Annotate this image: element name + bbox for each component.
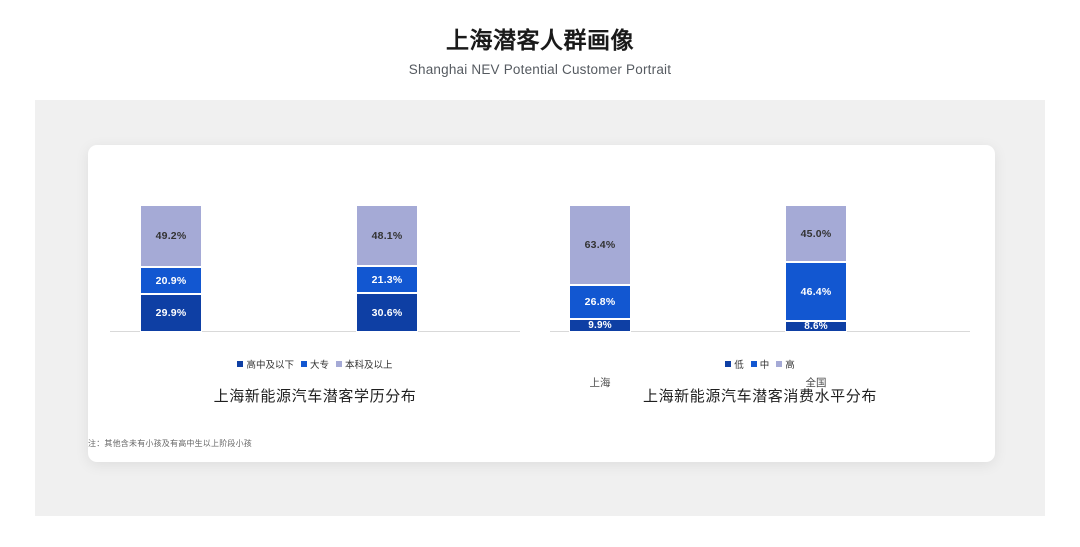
legend-item[interactable]: 高中及以下 (237, 357, 294, 371)
page-header: 上海潜客人群画像 Shanghai NEV Potential Customer… (0, 0, 1080, 100)
bar-segment-label: 45.0% (801, 228, 832, 240)
legend-label: 低 (734, 357, 744, 371)
bar-stack[interactable]: 48.1% 21.3% 30.6% (356, 205, 418, 332)
legend-swatch-icon (237, 361, 243, 367)
legend-label: 中 (760, 357, 770, 371)
bar-segment[interactable]: 48.1% (356, 205, 418, 266)
legend-item[interactable]: 本科及以上 (336, 357, 393, 371)
chart-caption: 上海新能源汽车潜客学历分布 (100, 385, 530, 406)
content-panel: 49.2% 20.9% 29.9% 48.1% (35, 100, 1045, 516)
bar-segment[interactable]: 45.0% (785, 205, 847, 262)
bar-stack[interactable]: 45.0% 46.4% 8.6% (785, 205, 847, 332)
chart-legend-consumption: 低 中 高 (540, 357, 980, 371)
bar-segment[interactable]: 21.3% (356, 266, 418, 293)
bar-segment[interactable]: 29.9% (140, 294, 202, 332)
bar-stack[interactable]: 63.4% 26.8% 9.9% (569, 205, 631, 332)
bar-group[interactable]: 49.2% 20.9% 29.9% (140, 185, 202, 332)
plot-area-education: 49.2% 20.9% 29.9% 48.1% (100, 185, 530, 332)
bar-segment[interactable]: 30.6% (356, 293, 418, 332)
page-title: 上海潜客人群画像 (0, 0, 1080, 55)
legend-swatch-icon (751, 361, 757, 367)
bar-segment[interactable]: 46.4% (785, 262, 847, 321)
bar-segment[interactable]: 20.9% (140, 267, 202, 294)
bar-group[interactable]: 48.1% 21.3% 30.6% (356, 185, 418, 332)
legend-swatch-icon (776, 361, 782, 367)
chart-legend-education: 高中及以下 大专 本科及以上 (100, 357, 530, 371)
legend-item[interactable]: 高 (776, 357, 795, 371)
plot-area-consumption: 63.4% 26.8% 9.9% 上海 45.0% (540, 185, 980, 332)
page-subtitle: Shanghai NEV Potential Customer Portrait (0, 55, 1080, 77)
legend-swatch-icon (336, 361, 342, 367)
bar-segment-label: 21.3% (372, 274, 403, 286)
chart-card: 49.2% 20.9% 29.9% 48.1% (88, 145, 995, 462)
bar-segment[interactable]: 26.8% (569, 285, 631, 319)
bar-segment-label: 8.6% (804, 321, 828, 332)
bar-group[interactable]: 63.4% 26.8% 9.9% (569, 185, 631, 332)
bar-stack[interactable]: 49.2% 20.9% 29.9% (140, 205, 202, 332)
bar-segment[interactable]: 9.9% (569, 319, 631, 332)
legend-item[interactable]: 低 (725, 357, 744, 371)
legend-label: 本科及以上 (345, 357, 393, 371)
bar-segment-label: 49.2% (156, 230, 187, 242)
legend-label: 高中及以下 (246, 357, 294, 371)
legend-item[interactable]: 大专 (301, 357, 329, 371)
legend-swatch-icon (301, 361, 307, 367)
bar-segment-label: 30.6% (372, 307, 403, 319)
legend-swatch-icon (725, 361, 731, 367)
bar-segment-label: 63.4% (585, 239, 616, 251)
chart-education-distribution: 49.2% 20.9% 29.9% 48.1% (100, 145, 530, 462)
bar-segment-label: 26.8% (585, 296, 616, 308)
bar-segment[interactable]: 8.6% (785, 321, 847, 332)
bar-group[interactable]: 45.0% 46.4% 8.6% (785, 185, 847, 332)
bar-segment-label: 29.9% (156, 307, 187, 319)
bar-segment[interactable]: 63.4% (569, 205, 631, 285)
legend-item[interactable]: 中 (751, 357, 770, 371)
legend-label: 高 (785, 357, 795, 371)
bar-segment-label: 20.9% (156, 275, 187, 287)
bar-segment-label: 9.9% (588, 320, 612, 331)
chart-footnote: 注：其他含未有小孩及有高中生以上阶段小孩 (88, 438, 252, 449)
chart-caption: 上海新能源汽车潜客消费水平分布 (540, 385, 980, 406)
chart-consumption-level-distribution: 63.4% 26.8% 9.9% 上海 45.0% (540, 145, 980, 462)
bar-segment-label: 48.1% (372, 230, 403, 242)
bar-segment-label: 46.4% (801, 286, 832, 298)
bar-segment[interactable]: 49.2% (140, 205, 202, 267)
legend-label: 大专 (310, 357, 329, 371)
